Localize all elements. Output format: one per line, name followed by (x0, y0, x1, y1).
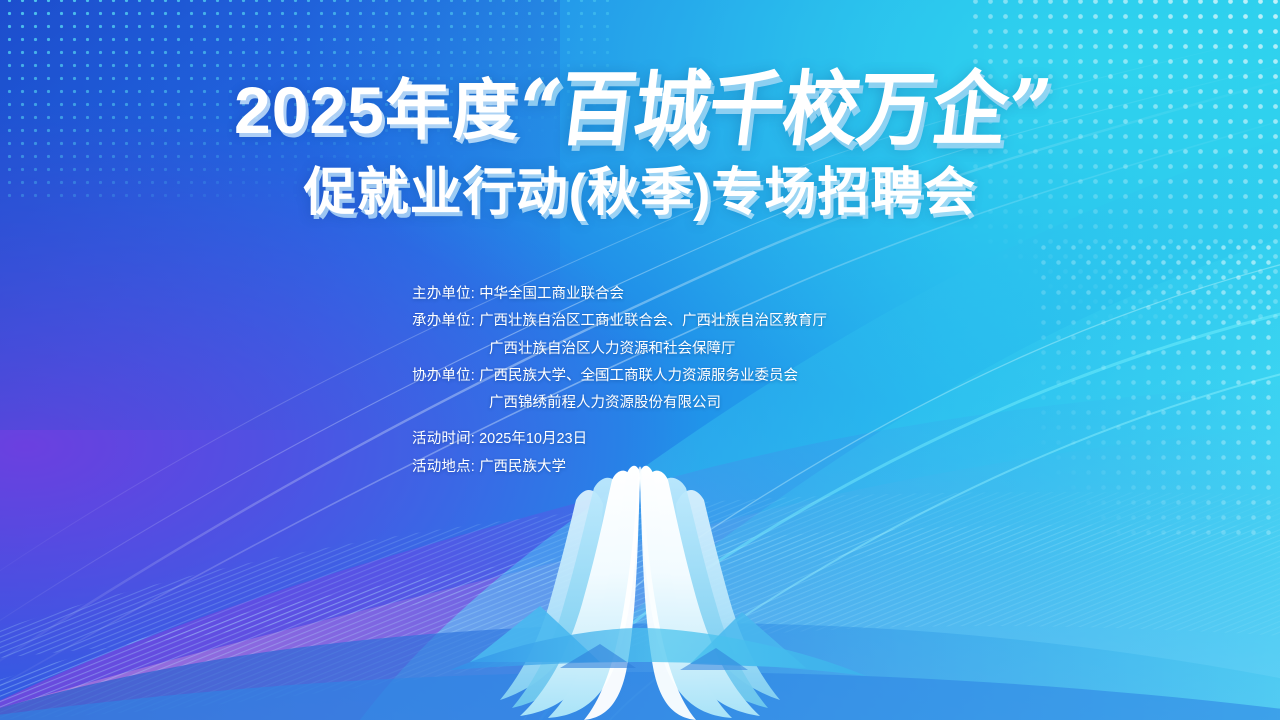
detail-value: 广西民族大学 (479, 459, 566, 475)
detail-line: 广西壮族自治区人力资源和社会保障厅 (412, 336, 972, 363)
halftone-dots-right (1036, 240, 1280, 540)
detail-value: 广西民族大学、全国工商联人力资源服务业委员会 (479, 368, 798, 384)
detail-value: 中华全国工商业联合会 (479, 286, 624, 302)
headline-block: 2025年度 “百城千校万企” 促就业行动(秋季)专场招聘会 (0, 64, 1280, 224)
details-block: 主办单位: 中华全国工商业联合会承办单位: 广西壮族自治区工商业联合会、广西壮族… (412, 281, 972, 481)
detail-line: 广西锦绣前程人力资源股份有限公司 (412, 390, 972, 417)
detail-line: 协办单位: 广西民族大学、全国工商联人力资源服务业委员会 (412, 363, 972, 390)
detail-value: 广西锦绣前程人力资源股份有限公司 (489, 395, 721, 411)
detail-label: 协办单位: (412, 368, 475, 384)
title-brush-phrase: “百城千校万企” (511, 69, 1057, 150)
detail-line: 活动时间: 2025年10月23日 (412, 426, 972, 453)
detail-line: 活动地点: 广西民族大学 (412, 454, 972, 481)
event-banner: 2025年度 “百城千校万企” 促就业行动(秋季)专场招聘会 主办单位: 中华全… (0, 0, 1280, 720)
main-title-row: 2025年度 “百城千校万企” (0, 64, 1280, 156)
detail-label: 承办单位: (412, 313, 475, 329)
detail-value: 2025年10月23日 (479, 431, 587, 447)
detail-label: 主办单位: (412, 286, 475, 302)
title-year: 2025年度 (234, 77, 519, 143)
detail-line: 主办单位: 中华全国工商业联合会 (412, 281, 972, 308)
detail-value: 广西壮族自治区人力资源和社会保障厅 (489, 341, 736, 357)
detail-label: 活动时间: (412, 431, 475, 447)
detail-value: 广西壮族自治区工商业联合会、广西壮族自治区教育厅 (479, 313, 827, 329)
detail-label: 活动地点: (412, 459, 475, 475)
detail-line: 承办单位: 广西壮族自治区工商业联合会、广西壮族自治区教育厅 (412, 308, 972, 335)
subtitle: 促就业行动(秋季)专场招聘会 (0, 164, 1280, 224)
